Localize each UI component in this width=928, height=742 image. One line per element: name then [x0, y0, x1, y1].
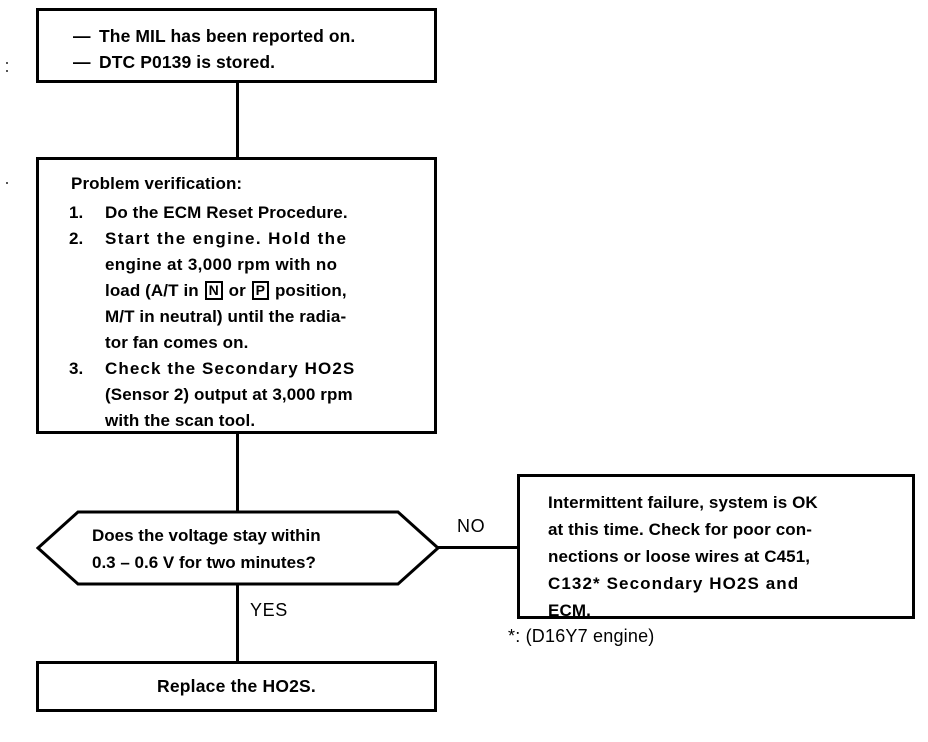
- decision-hexagon: Does the voltage stay within 0.3 – 0.6 V…: [36, 508, 440, 588]
- intermittent-line: ECM.: [548, 597, 908, 624]
- symptom-bullet: —: [73, 49, 99, 75]
- step-line: M/T in neutral) until the radia-: [105, 304, 439, 330]
- keycap-n-icon: N: [205, 281, 223, 300]
- step-number: 2.: [69, 226, 83, 252]
- connector-symptom-to-verification: [236, 83, 239, 157]
- verification-step-2: 2. Start the engine. Hold the engine at …: [69, 226, 439, 356]
- step-line: Do the ECM Reset Procedure.: [105, 200, 439, 226]
- intermittent-line: C132* Secondary HO2S and: [548, 570, 908, 597]
- intermittent-line: Intermittent failure, system is OK: [548, 489, 908, 516]
- scan-artifact: [6, 182, 8, 184]
- problem-verification-box: Problem verification: 1. Do the ECM Rese…: [36, 157, 437, 434]
- flowchart-canvas: —The MIL has been reported on. —DTC P013…: [0, 0, 928, 742]
- intermittent-line: at this time. Check for poor con-: [548, 516, 908, 543]
- label-yes: YES: [250, 600, 288, 621]
- step-number: 3.: [69, 356, 83, 382]
- result-box: Replace the HO2S.: [36, 661, 437, 712]
- keycap-p-icon: P: [252, 281, 269, 300]
- step-line: with the scan tool.: [105, 408, 439, 434]
- verification-step-1: 1. Do the ECM Reset Procedure.: [69, 200, 439, 226]
- decision-line-2: 0.3 – 0.6 V for two minutes?: [92, 549, 321, 576]
- step-line-load: load (A/T in N or P position,: [105, 278, 439, 304]
- step-line: tor fan comes on.: [105, 330, 439, 356]
- symptom-line-1: —The MIL has been reported on.: [73, 23, 355, 49]
- load-mid: or: [229, 281, 246, 300]
- step-line: (Sensor 2) output at 3,000 rpm: [105, 382, 439, 408]
- decision-text: Does the voltage stay within 0.3 – 0.6 V…: [92, 522, 321, 576]
- intermittent-text: Intermittent failure, system is OK at th…: [548, 489, 908, 624]
- symptom-box: —The MIL has been reported on. —DTC P013…: [36, 8, 437, 83]
- step-line: engine at 3,000 rpm with no: [105, 252, 439, 278]
- load-prefix: load (A/T in: [105, 281, 199, 300]
- verification-step-3: 3. Check the Secondary HO2S (Sensor 2) o…: [69, 356, 439, 434]
- symptom-bullet: —: [73, 23, 99, 49]
- intermittent-line: nections or loose wires at C451,: [548, 543, 908, 570]
- verification-steps: 1. Do the ECM Reset Procedure. 2. Start …: [69, 200, 439, 434]
- scan-artifact: [6, 70, 8, 72]
- step-line: Start the engine. Hold the: [105, 226, 439, 252]
- symptom-line-2: —DTC P0139 is stored.: [73, 49, 275, 75]
- connector-verification-to-decision: [236, 434, 239, 511]
- load-suffix: position,: [275, 281, 347, 300]
- step-line: Check the Secondary HO2S: [105, 356, 439, 382]
- footnote-d16y7: *: (D16Y7 engine): [508, 626, 655, 647]
- label-no: NO: [457, 516, 485, 537]
- connector-yes-branch: [236, 583, 239, 661]
- step-number: 1.: [69, 200, 83, 226]
- result-text: Replace the HO2S.: [39, 676, 434, 697]
- decision-line-1: Does the voltage stay within: [92, 522, 321, 549]
- verification-heading: Problem verification:: [71, 174, 242, 194]
- scan-artifact: [6, 62, 8, 64]
- connector-no-branch: [436, 546, 520, 549]
- intermittent-failure-box: Intermittent failure, system is OK at th…: [517, 474, 915, 619]
